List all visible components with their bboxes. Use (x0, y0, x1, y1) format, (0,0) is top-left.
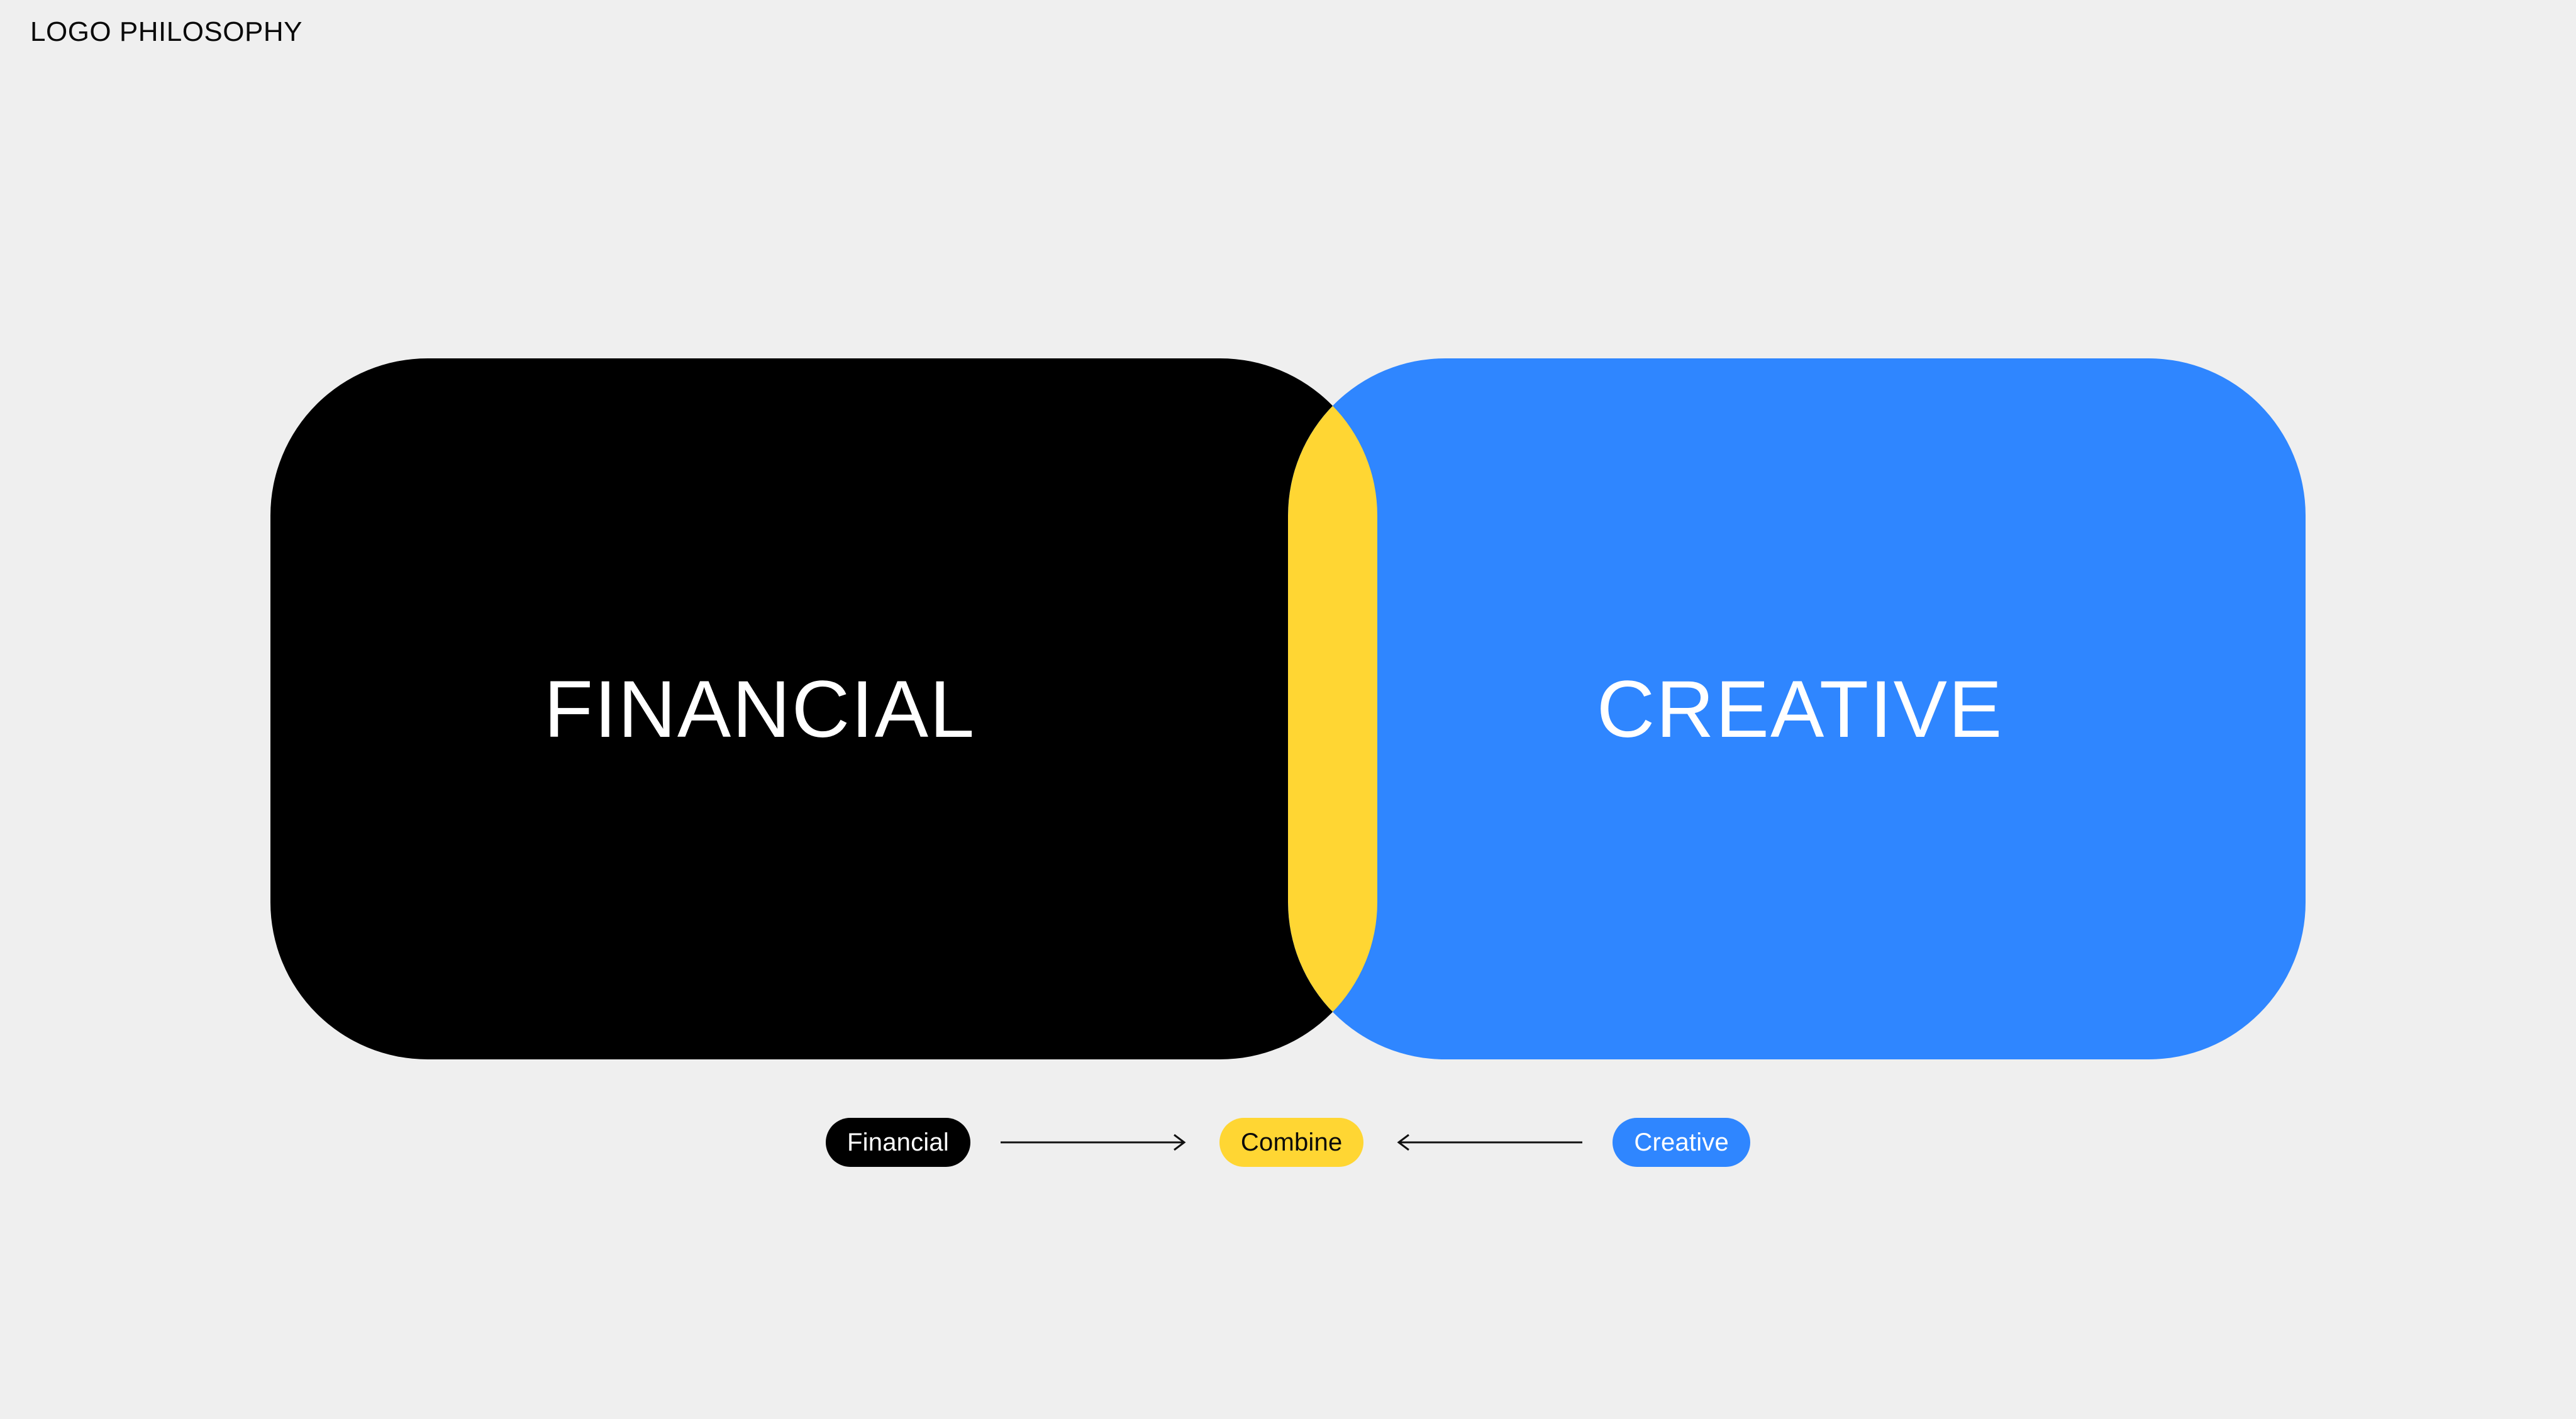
legend-pill-creative[interactable]: Creative (1613, 1118, 1750, 1167)
arrow-financial-to-combine (1001, 1130, 1189, 1155)
creative-shape-label: CREATIVE (1597, 665, 2004, 754)
creative-shape[interactable] (1288, 358, 2306, 1059)
legend-pill-financial-label: Financial (847, 1129, 949, 1157)
financial-shape[interactable] (270, 358, 1377, 1059)
legend-pill-combine[interactable]: Combine (1219, 1118, 1363, 1167)
canvas: LOGO PHILOSOPHY FINANCIAL (0, 0, 2576, 1419)
page-title: LOGO PHILOSOPHY (30, 16, 303, 48)
financial-shape-label: FINANCIAL (544, 665, 976, 754)
combine-intersection[interactable] (1288, 358, 2306, 1059)
legend-pill-financial[interactable]: Financial (826, 1118, 970, 1167)
venn-diagram: FINANCIAL CREATIVE (0, 0, 2576, 1419)
legend-pill-combine-label: Combine (1241, 1129, 1342, 1157)
legend-pill-creative-label: Creative (1634, 1129, 1729, 1157)
legend-row: Financial Combine Creative (0, 1114, 2576, 1171)
arrow-creative-to-combine (1394, 1130, 1582, 1155)
